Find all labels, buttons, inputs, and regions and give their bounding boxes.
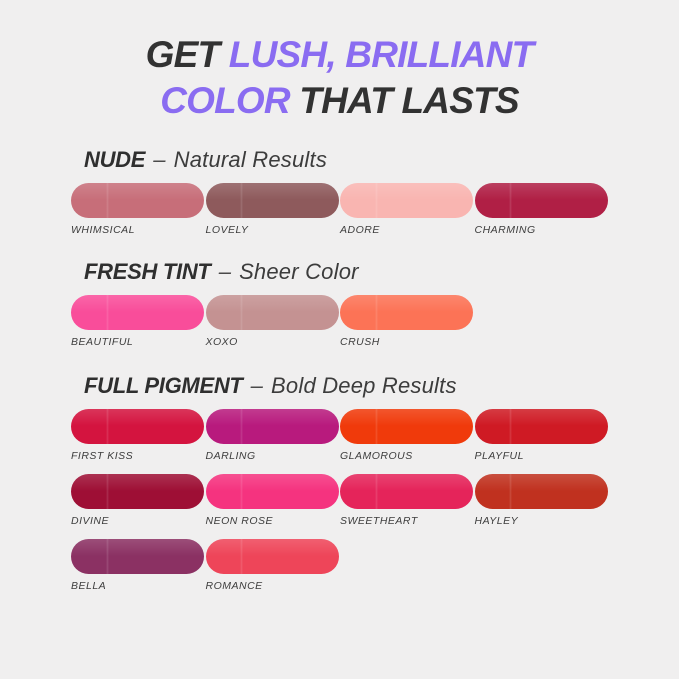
section-nude-subtitle: Natural Results xyxy=(174,147,327,172)
swatch-crush[interactable]: CRUSH xyxy=(340,295,475,348)
section-fresh-tint-rows: BEAUTIFUL XOXO CRUSH xyxy=(0,295,679,348)
headline-line-1: GET LUSH, BRILLIANT xyxy=(0,32,679,78)
swatch-swatch-color[interactable] xyxy=(340,409,473,444)
swatch-hayley[interactable]: HAYLEY xyxy=(475,474,610,527)
swatch-swatch-color[interactable] xyxy=(206,295,339,330)
swatch-label: PLAYFUL xyxy=(475,450,610,462)
swatch-label: WHIMSICAL xyxy=(71,224,206,236)
swatch-label: ADORE xyxy=(340,224,475,236)
swatch-swatch-color[interactable] xyxy=(206,474,339,509)
swatch-label: DARLING xyxy=(206,450,341,462)
swatch-first-kiss[interactable]: FIRST KISS xyxy=(71,409,206,462)
shade-sections: NUDE – Natural Results WHIMSICAL LOVELY xyxy=(0,146,679,592)
section-full-pigment-title: FULL PIGMENT xyxy=(84,373,243,398)
swatch-label: BELLA xyxy=(71,580,206,592)
swatch-label: BEAUTIFUL xyxy=(71,336,206,348)
swatch-glamorous[interactable]: GLAMOROUS xyxy=(340,409,475,462)
shade-chart-page: GET LUSH, BRILLIANT COLOR THAT LASTS NUD… xyxy=(0,0,679,679)
swatch-bella[interactable]: BELLA xyxy=(71,539,206,592)
section-nude-heading: NUDE – Natural Results xyxy=(0,146,679,174)
swatch-swatch-color[interactable] xyxy=(71,183,204,218)
swatch-label: HAYLEY xyxy=(475,515,610,527)
swatch-row: BELLA ROMANCE xyxy=(0,539,679,592)
section-fresh-tint-subtitle: Sheer Color xyxy=(239,259,359,284)
swatch-label: ROMANCE xyxy=(206,580,341,592)
section-nude-dash: – xyxy=(151,147,167,172)
section-nude: NUDE – Natural Results WHIMSICAL LOVELY xyxy=(0,146,679,236)
swatch-romance[interactable]: ROMANCE xyxy=(206,539,341,592)
section-nude-rows: WHIMSICAL LOVELY ADORE CHARMING xyxy=(0,183,679,236)
swatch-placeholder xyxy=(475,539,610,592)
section-fresh-tint: FRESH TINT – Sheer Color BEAUTIFUL XOXO xyxy=(0,258,679,348)
swatch-label: DIVINE xyxy=(71,515,206,527)
swatch-lovely[interactable]: LOVELY xyxy=(206,183,341,236)
section-full-pigment-dash: – xyxy=(249,373,265,398)
swatch-swatch-color[interactable] xyxy=(206,183,339,218)
swatch-swatch-color[interactable] xyxy=(340,474,473,509)
section-full-pigment-heading: FULL PIGMENT – Bold Deep Results xyxy=(0,372,679,400)
swatch-label: FIRST KISS xyxy=(71,450,206,462)
swatch-adore[interactable]: ADORE xyxy=(340,183,475,236)
swatch-swatch-color[interactable] xyxy=(340,295,473,330)
swatch-swatch-color[interactable] xyxy=(475,409,608,444)
swatch-swatch-color[interactable] xyxy=(71,539,204,574)
swatch-swatch-color[interactable] xyxy=(475,183,608,218)
swatch-swatch-color[interactable] xyxy=(475,474,608,509)
swatch-beautiful[interactable]: BEAUTIFUL xyxy=(71,295,206,348)
swatch-placeholder xyxy=(475,295,610,348)
section-fresh-tint-heading: FRESH TINT – Sheer Color xyxy=(0,258,679,286)
page-headline: GET LUSH, BRILLIANT COLOR THAT LASTS xyxy=(0,0,679,124)
headline-get-text: GET xyxy=(146,34,229,75)
headline-lush-brilliant-text: LUSH, BRILLIANT xyxy=(229,34,534,75)
swatch-charming[interactable]: CHARMING xyxy=(475,183,610,236)
swatch-swatch-color[interactable] xyxy=(206,539,339,574)
headline-color-text: COLOR xyxy=(160,80,290,121)
swatch-label: NEON ROSE xyxy=(206,515,341,527)
headline-line-2: COLOR THAT LASTS xyxy=(0,78,679,124)
section-full-pigment-subtitle: Bold Deep Results xyxy=(271,373,457,398)
swatch-divine[interactable]: DIVINE xyxy=(71,474,206,527)
swatch-row: BEAUTIFUL XOXO CRUSH xyxy=(0,295,679,348)
section-full-pigment-rows: FIRST KISS DARLING GLAMOROUS PLAYFUL xyxy=(0,409,679,592)
swatch-label: SWEETHEART xyxy=(340,515,475,527)
swatch-label: GLAMOROUS xyxy=(340,450,475,462)
swatch-xoxo[interactable]: XOXO xyxy=(206,295,341,348)
swatch-swatch-color[interactable] xyxy=(340,183,473,218)
swatch-label: CRUSH xyxy=(340,336,475,348)
headline-that-lasts-text: THAT LASTS xyxy=(290,80,519,121)
swatch-sweetheart[interactable]: SWEETHEART xyxy=(340,474,475,527)
swatch-swatch-color[interactable] xyxy=(71,295,204,330)
swatch-playful[interactable]: PLAYFUL xyxy=(475,409,610,462)
swatch-row: DIVINE NEON ROSE SWEETHEART HAYLEY xyxy=(0,474,679,527)
section-fresh-tint-title: FRESH TINT xyxy=(84,259,211,284)
swatch-label: XOXO xyxy=(206,336,341,348)
swatch-row: FIRST KISS DARLING GLAMOROUS PLAYFUL xyxy=(0,409,679,462)
swatch-placeholder xyxy=(340,539,475,592)
swatch-darling[interactable]: DARLING xyxy=(206,409,341,462)
swatch-neon-rose[interactable]: NEON ROSE xyxy=(206,474,341,527)
swatch-swatch-color[interactable] xyxy=(71,409,204,444)
swatch-label: CHARMING xyxy=(475,224,610,236)
swatch-row: WHIMSICAL LOVELY ADORE CHARMING xyxy=(0,183,679,236)
section-fresh-tint-dash: – xyxy=(217,259,233,284)
section-nude-title: NUDE xyxy=(84,147,145,172)
swatch-label: LOVELY xyxy=(206,224,341,236)
swatch-swatch-color[interactable] xyxy=(206,409,339,444)
swatch-swatch-color[interactable] xyxy=(71,474,204,509)
section-full-pigment: FULL PIGMENT – Bold Deep Results FIRST K… xyxy=(0,372,679,592)
swatch-whimsical[interactable]: WHIMSICAL xyxy=(71,183,206,236)
